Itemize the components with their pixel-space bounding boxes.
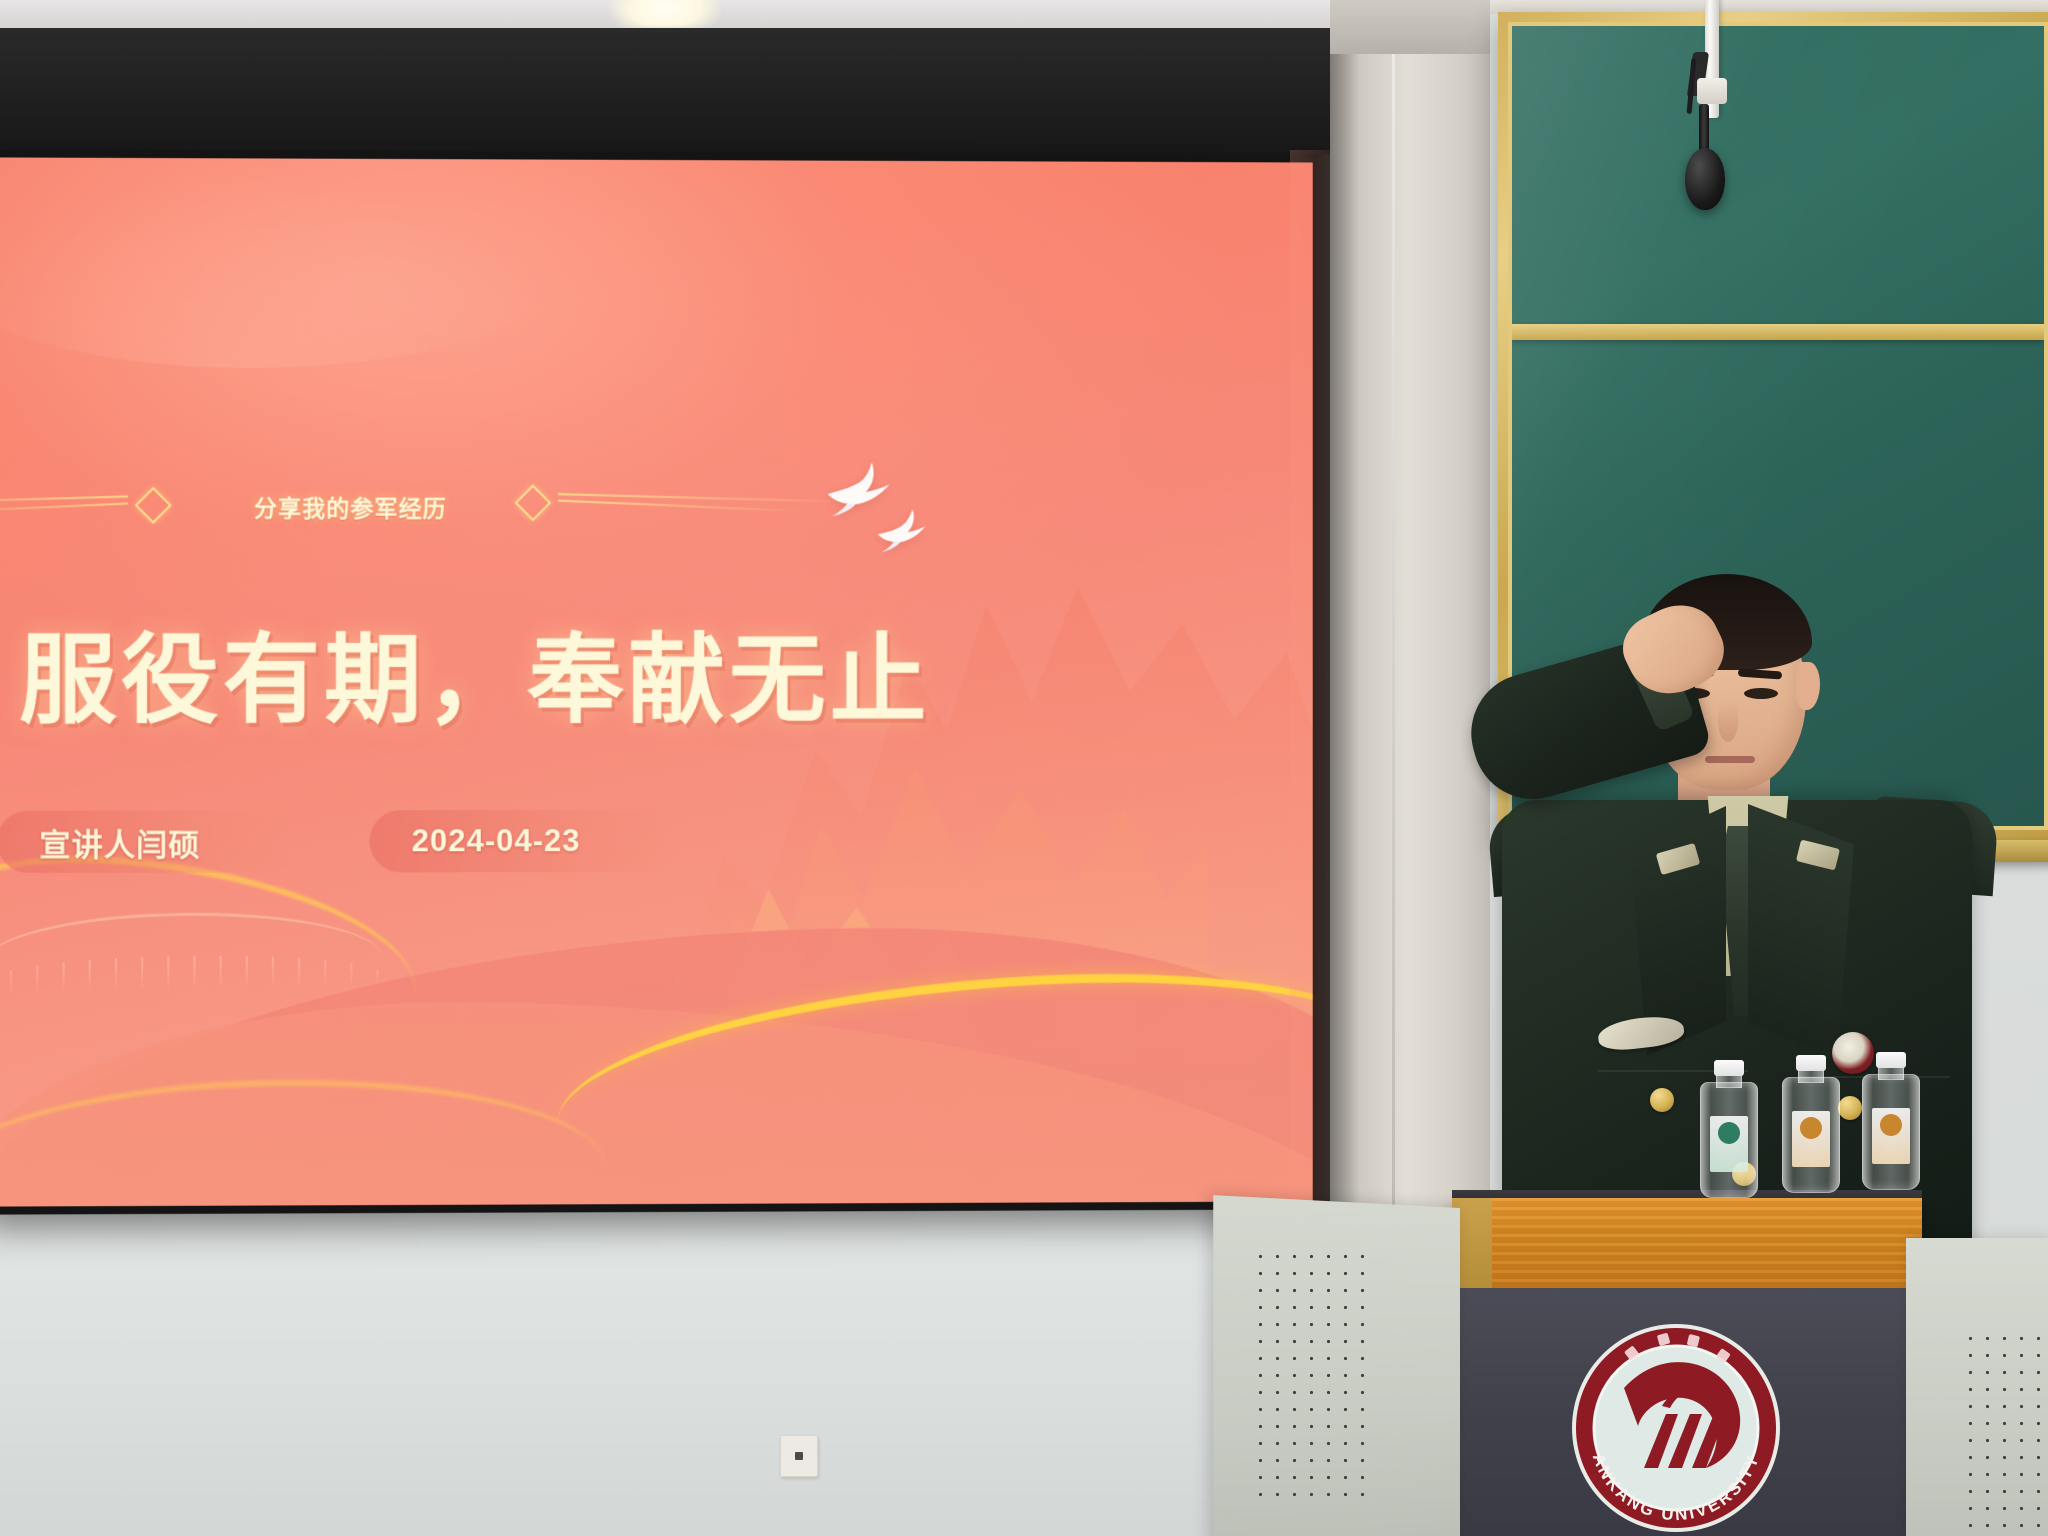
dove-icon-small bbox=[872, 508, 928, 556]
date-label: 2024-04-23 bbox=[412, 823, 581, 859]
bottle-label bbox=[1710, 1116, 1747, 1172]
bottle-label bbox=[1792, 1111, 1829, 1167]
water-bottle-1[interactable] bbox=[1700, 1060, 1758, 1200]
microphone-clip bbox=[1697, 78, 1727, 104]
pillar-top-band bbox=[1330, 0, 1490, 54]
speaker-grille-right bbox=[1962, 1330, 2048, 1530]
gold-ribbon-main bbox=[549, 948, 1312, 1135]
ray-lines-right bbox=[546, 493, 846, 513]
diamond-ornament-left bbox=[0, 492, 166, 519]
nose bbox=[1718, 700, 1738, 742]
bottle-label-mark bbox=[1880, 1114, 1902, 1136]
gold-ribbon-bottom bbox=[0, 1067, 607, 1198]
wall-outlet[interactable] bbox=[780, 1435, 818, 1477]
diamond-ornament-right bbox=[520, 490, 846, 516]
presenter-pill: 宣讲人闫硕 bbox=[0, 810, 299, 873]
lower-wall bbox=[0, 1195, 1240, 1536]
bottle-label bbox=[1872, 1108, 1909, 1164]
lecture-hall-photo: 分享我的参军经历 服役有期，奉献无止 宣讲人闫硕 2024-04-23 bbox=[0, 0, 2048, 1536]
water-bottle-3[interactable] bbox=[1862, 1052, 1920, 1200]
bottle-cap bbox=[1714, 1060, 1744, 1076]
bottle-cap bbox=[1876, 1052, 1906, 1068]
bottle-label-mark bbox=[1800, 1117, 1822, 1139]
bottle-label-mark bbox=[1718, 1122, 1740, 1144]
mouth bbox=[1705, 756, 1755, 763]
lectern-wood-trim bbox=[1452, 1198, 1922, 1290]
button-gold-2 bbox=[1838, 1096, 1862, 1120]
ray-lines-left bbox=[0, 495, 140, 515]
slide-subtitle: 分享我的参军经历 bbox=[254, 489, 447, 523]
projection-screen: 分享我的参军经历 服役有期，奉献无止 宣讲人闫硕 2024-04-23 bbox=[0, 149, 1333, 1214]
bottle-cap bbox=[1796, 1055, 1826, 1071]
pillar-seam bbox=[1392, 0, 1395, 1240]
speaker-grille-left bbox=[1252, 1248, 1370, 1498]
slide-title: 服役有期，奉献无止 bbox=[19, 600, 930, 742]
university-emblem: ANKANG UNIVERSITY bbox=[1566, 1318, 1786, 1536]
slide-top-curve bbox=[0, 178, 553, 368]
ceiling-light bbox=[610, 0, 720, 28]
presenter-label: 宣讲人闫硕 bbox=[39, 819, 200, 864]
eye-right bbox=[1744, 688, 1778, 699]
ear-right bbox=[1796, 662, 1820, 710]
microphone-icon bbox=[1685, 148, 1725, 210]
water-bottle-2[interactable] bbox=[1782, 1055, 1840, 1200]
presentation-slide: 分享我的参军经历 服役有期，奉献无止 宣讲人闫硕 2024-04-23 bbox=[0, 157, 1313, 1206]
date-pill: 2024-04-23 bbox=[369, 810, 680, 872]
diamond-icon bbox=[135, 487, 172, 524]
pillar-shadow bbox=[1330, 0, 1360, 1240]
button-gold-1 bbox=[1650, 1088, 1674, 1112]
